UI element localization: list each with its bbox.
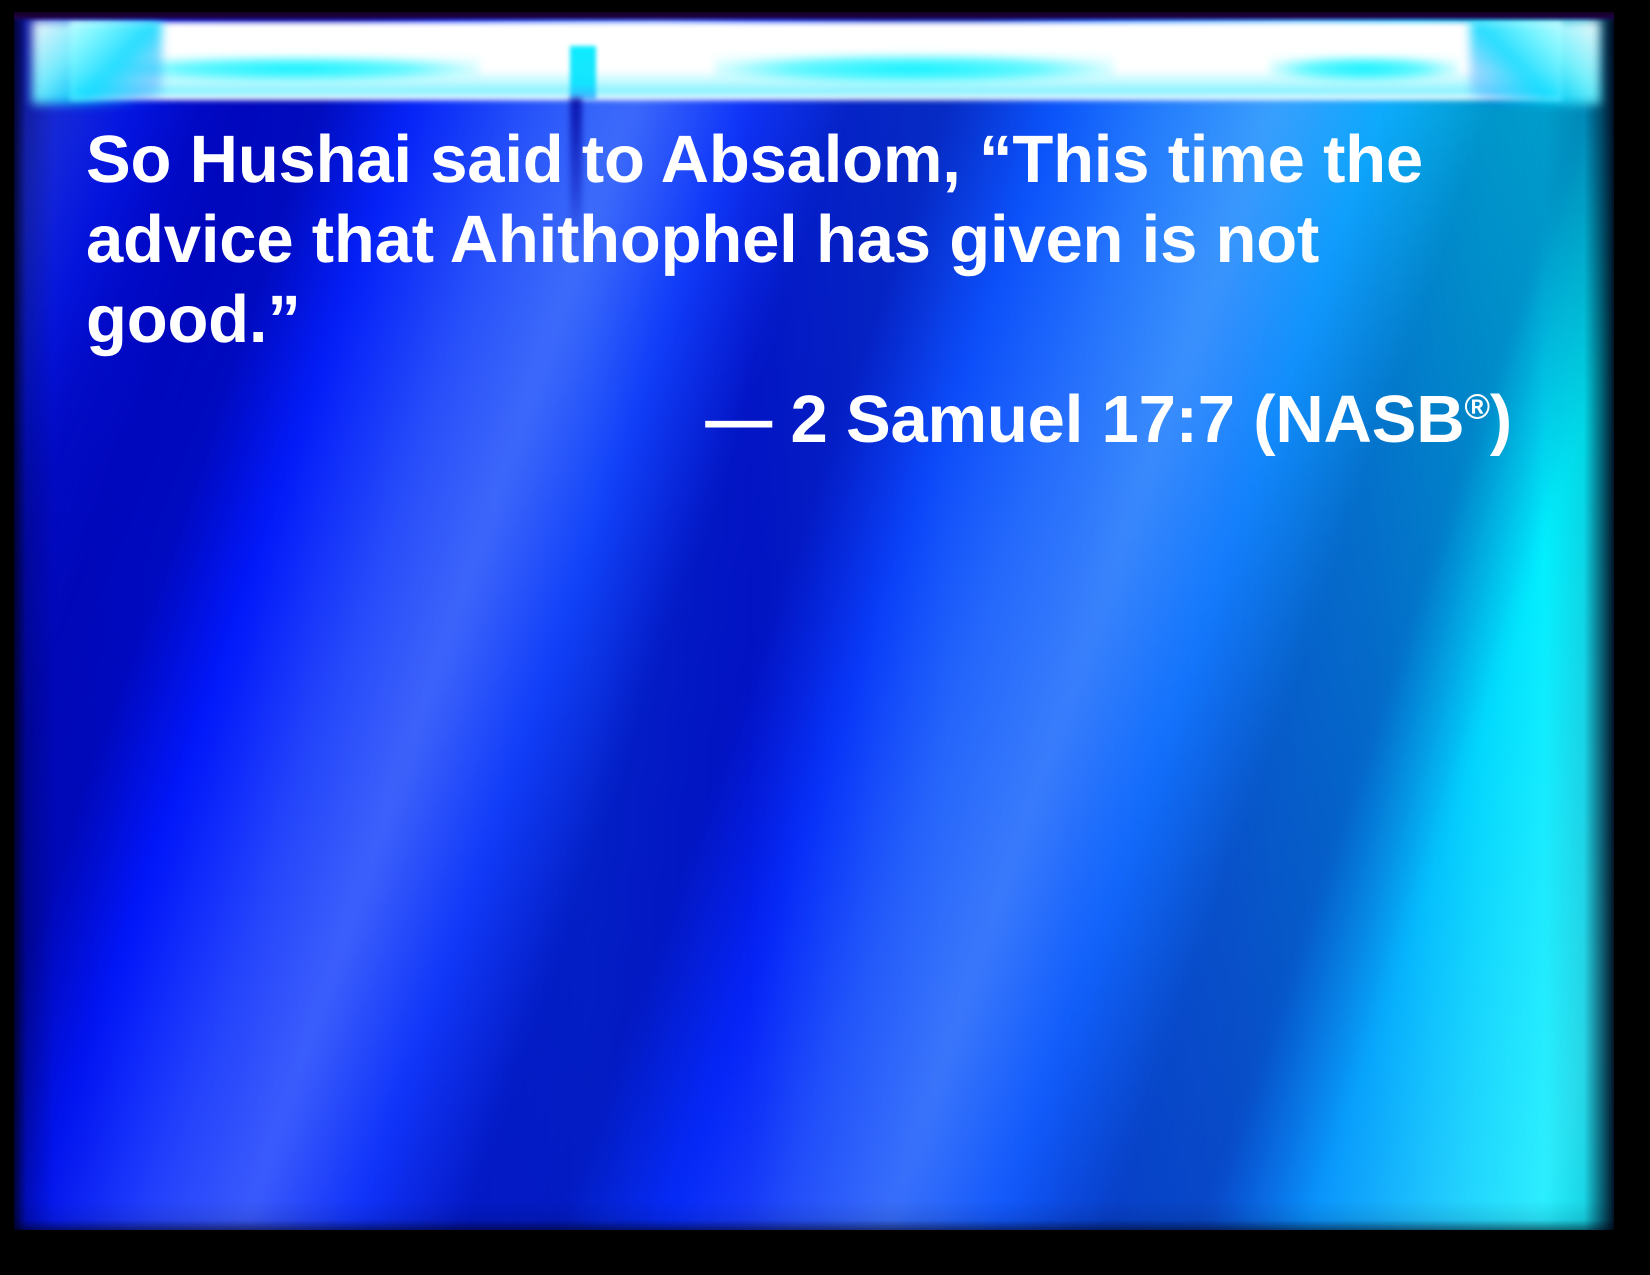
attribution-closing-paren: ) xyxy=(1490,382,1512,457)
verse-text: So Hushai said to Absalom, “This time th… xyxy=(86,120,1506,360)
attribution-dash: — xyxy=(705,382,790,457)
slide-canvas: So Hushai said to Absalom, “This time th… xyxy=(14,12,1614,1230)
attribution-reference: 2 Samuel 17:7 (NASB xyxy=(791,382,1465,457)
registered-trademark-icon: ® xyxy=(1464,388,1489,427)
verse-attribution: — 2 Samuel 17:7 (NASB®) xyxy=(86,380,1526,460)
text-layer: So Hushai said to Absalom, “This time th… xyxy=(14,12,1614,1230)
slide-frame: So Hushai said to Absalom, “This time th… xyxy=(0,0,1650,1275)
